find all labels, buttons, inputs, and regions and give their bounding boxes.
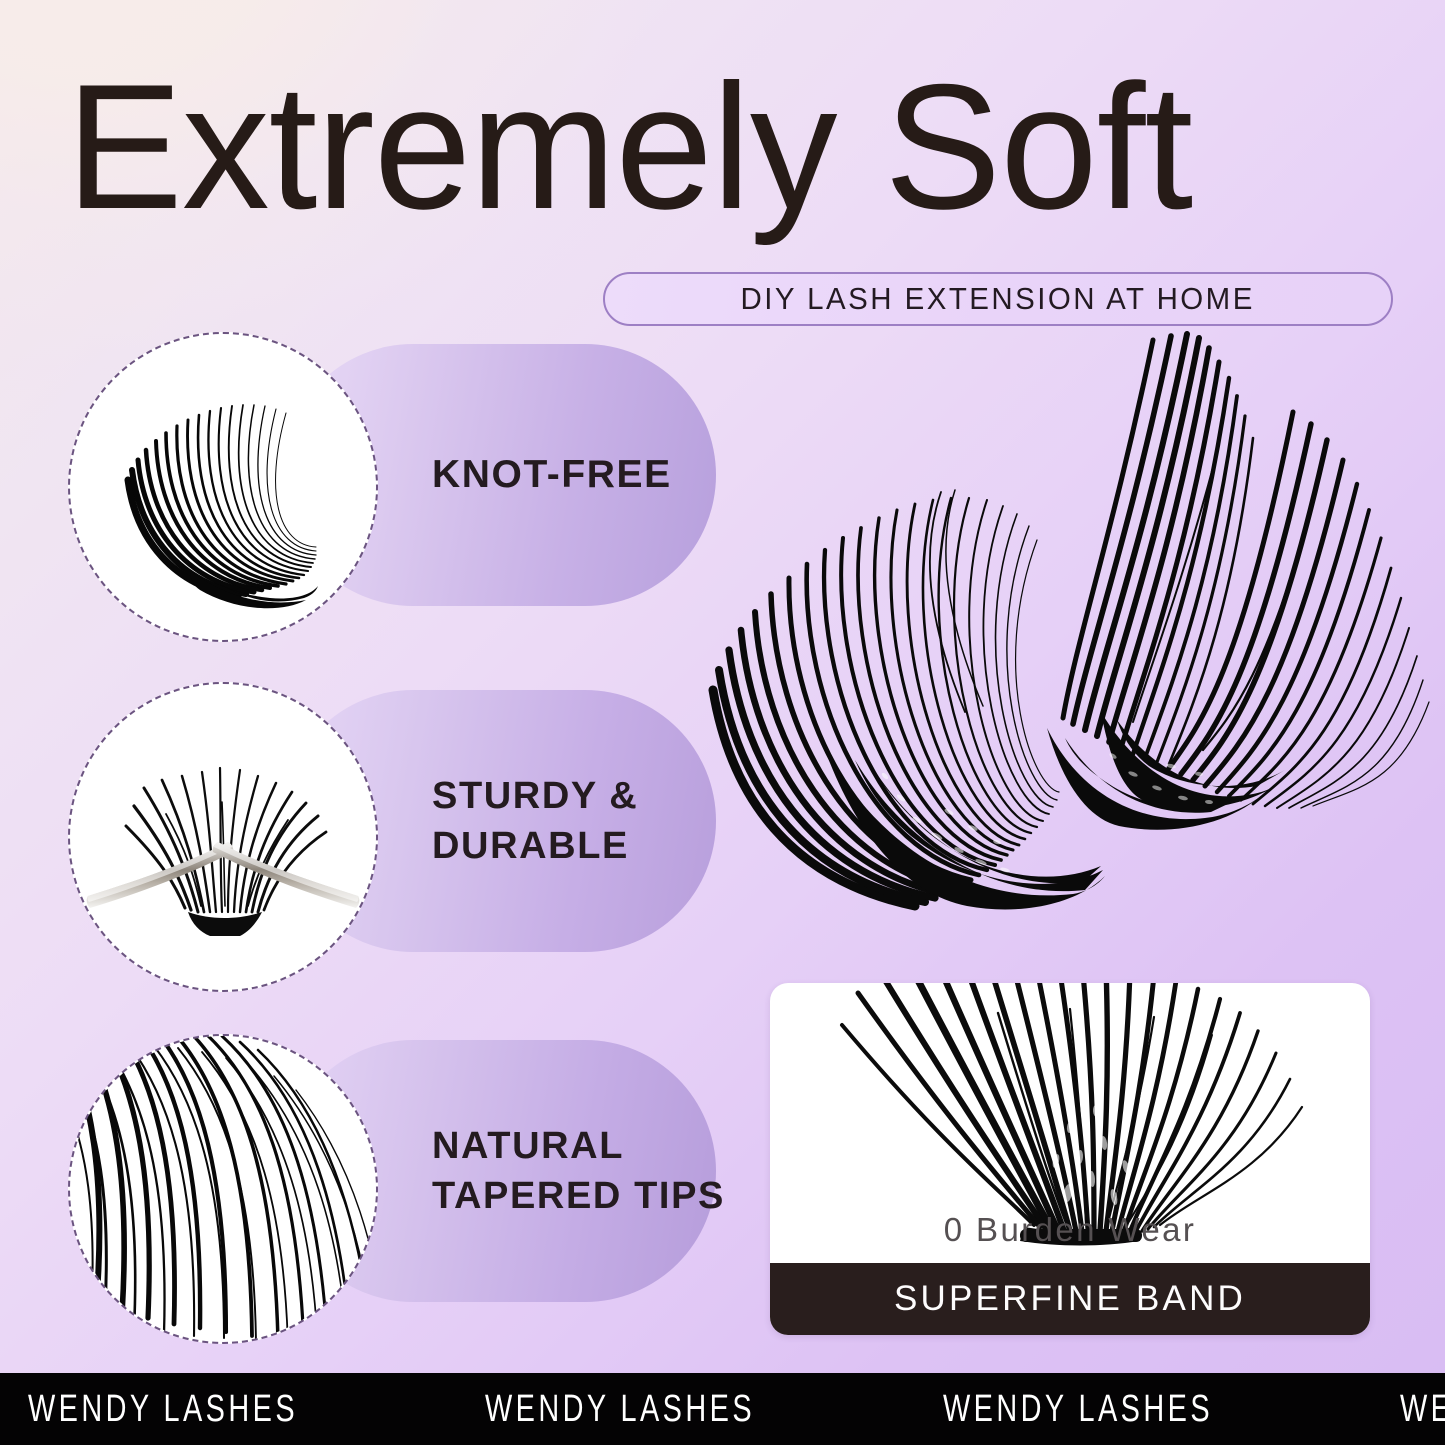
feature-row-sturdy-durable: STURDY & DURABLE (68, 678, 716, 964)
feature-label-line1: STURDY & (432, 771, 732, 821)
band-label-bar: SUPERFINE BAND (770, 1263, 1370, 1335)
feature-row-natural-tapered-tips: NATURAL TAPERED TIPS (68, 1028, 716, 1314)
brand-name: WENDY LASHES (1400, 1388, 1445, 1431)
brand-footer: WENDY LASHES WENDY LASHES WENDY LASHES W… (0, 1373, 1445, 1445)
subtitle-text: DIY LASH EXTENSION AT HOME (741, 281, 1255, 317)
feature-label-knot-free: KNOT-FREE (432, 332, 732, 618)
subtitle-pill: DIY LASH EXTENSION AT HOME (603, 272, 1393, 326)
feature-label-line1: NATURAL (432, 1121, 732, 1171)
brand-name: WENDY LASHES (485, 1388, 855, 1431)
feature-row-knot-free: KNOT-FREE (68, 332, 716, 618)
feature-label-natural-tapered-tips: NATURAL TAPERED TIPS (432, 1028, 732, 1314)
lash-cluster-curved-icon (68, 332, 378, 642)
tapered-lash-fibers-icon (68, 1034, 378, 1344)
two-lash-clusters-icon (705, 320, 1445, 1000)
feature-label-line2: DURABLE (432, 821, 732, 871)
band-label-text: SUPERFINE BAND (894, 1279, 1246, 1319)
brand-name: WENDY LASHES (943, 1388, 1313, 1431)
band-caption: 0 Burden Wear (770, 1211, 1370, 1249)
feature-label-line1: KNOT-FREE (432, 449, 732, 500)
feature-label-line2: TAPERED TIPS (432, 1171, 732, 1221)
page-title: Extremely Soft (66, 58, 1376, 236)
brand-footer-track: WENDY LASHES WENDY LASHES WENDY LASHES W… (0, 1388, 1445, 1431)
product-infographic: Extremely Soft DIY LASH EXTENSION AT HOM… (0, 0, 1445, 1445)
superfine-band-card: 0 Burden Wear SUPERFINE BAND (770, 983, 1370, 1335)
feature-label-sturdy-durable: STURDY & DURABLE (432, 678, 732, 964)
tweezers-holding-lash-icon (68, 682, 378, 992)
brand-name: WENDY LASHES (28, 1388, 398, 1431)
